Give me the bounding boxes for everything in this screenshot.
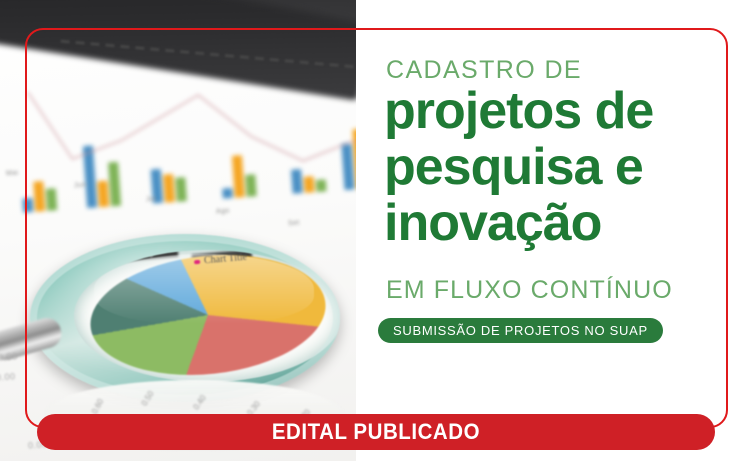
axis-tick: Jun — [74, 182, 87, 190]
axis-tick: Jul — [146, 196, 157, 204]
lens-rim — [30, 234, 340, 402]
kicker-text: CADASTRO DE — [386, 56, 582, 85]
submission-badge[interactable]: SUBMISSÃO DE PROJETOS NO SUAP — [378, 318, 663, 343]
ruler-number: 0.40 — [192, 394, 208, 412]
text-panel: CADASTRO DE projetos de pesquisa e inova… — [378, 0, 738, 461]
ruler-number: 0.50 — [140, 390, 156, 408]
headline-line-2: pesquisa e — [384, 139, 653, 195]
promotional-banner: Mai Jun Jul Ago Set Aug Sep Chart Title — [0, 0, 751, 461]
status-ribbon-label: EDITAL PUBLICADO — [272, 419, 480, 445]
headline-line-1: projetos de — [384, 83, 653, 139]
printed-trend-line — [0, 26, 356, 214]
headline-line-3: inovação — [384, 195, 653, 251]
headline: projetos de pesquisa e inovação — [384, 83, 653, 251]
paper-number: 0.00 — [0, 351, 18, 362]
paper-number: 0.00 — [0, 371, 16, 382]
axis-tick: Ago — [216, 208, 230, 216]
axis-tick: Set — [288, 220, 300, 228]
magnifying-glass: Aug Sep Chart Title 0.60 0.50 0.40 0.30 … — [8, 228, 354, 428]
ruler-number: 0.60 — [90, 398, 105, 416]
status-ribbon: EDITAL PUBLICADO — [37, 414, 715, 450]
axis-tick: Mai — [6, 170, 19, 178]
subline-text: EM FLUXO CONTÍNUO — [386, 276, 673, 305]
photo-panel: Mai Jun Jul Ago Set Aug Sep Chart Title — [0, 0, 356, 461]
